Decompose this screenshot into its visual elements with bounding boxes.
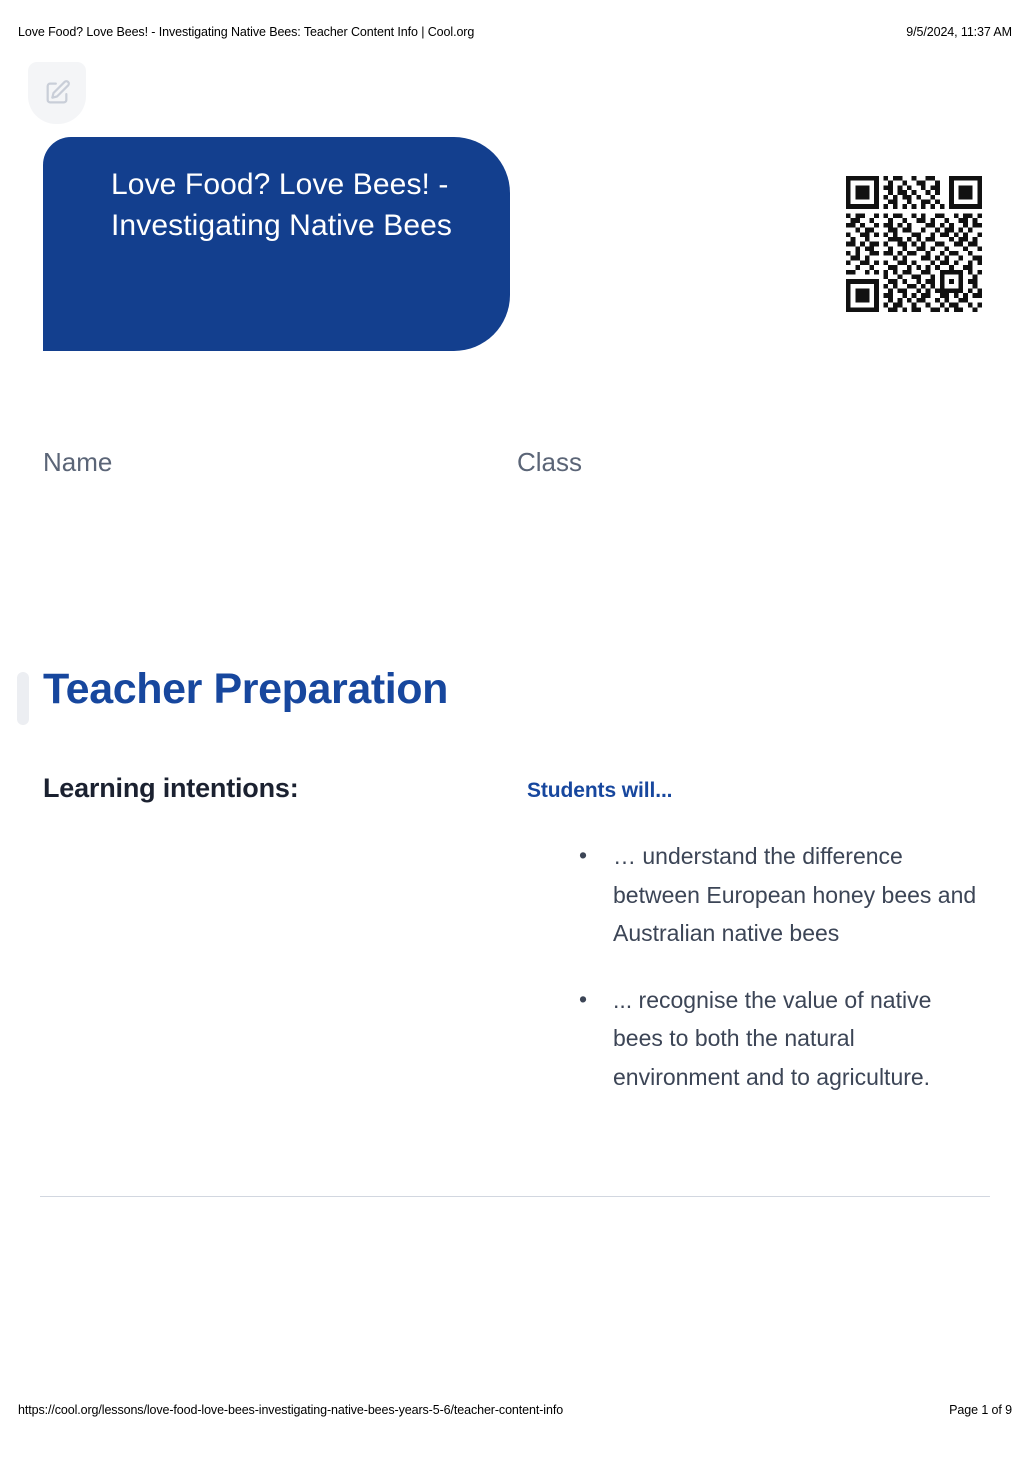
print-header: Love Food? Love Bees! - Investigating Na… [0,22,1030,42]
lesson-title: Love Food? Love Bees! - Investigating Na… [111,164,471,246]
learning-intentions-list: … understand the difference between Euro… [527,837,987,1096]
list-item: ... recognise the value of native bees t… [527,981,987,1097]
print-header-title: Love Food? Love Bees! - Investigating Na… [18,25,474,39]
edit-button[interactable] [28,62,86,124]
page-title: Teacher Preparation [43,665,448,714]
section-divider [40,1196,990,1197]
students-will-heading: Students will... [527,777,987,805]
print-footer-url: https://cool.org/lessons/love-food-love-… [18,1403,563,1417]
class-field-label: Class [517,447,582,478]
qr-code-icon [846,176,982,312]
print-footer-page: Page 1 of 9 [949,1403,1012,1417]
section-accent-bar [17,672,29,725]
qr-code [846,176,982,312]
edit-pencil-square-icon [43,79,71,107]
print-footer: https://cool.org/lessons/love-food-love-… [0,1400,1030,1420]
name-field-label: Name [43,447,112,478]
learning-intentions-column: Learning intentions: [43,771,503,805]
student-fields-row: Name Class [43,447,983,483]
students-will-column: Students will... … understand the differ… [527,771,987,1096]
list-item: … understand the difference between Euro… [527,837,987,953]
learning-intentions-heading: Learning intentions: [43,771,503,805]
print-header-timestamp: 9/5/2024, 11:37 AM [906,25,1012,39]
lesson-title-banner: Love Food? Love Bees! - Investigating Na… [43,137,510,351]
section-header: Teacher Preparation [17,665,717,727]
